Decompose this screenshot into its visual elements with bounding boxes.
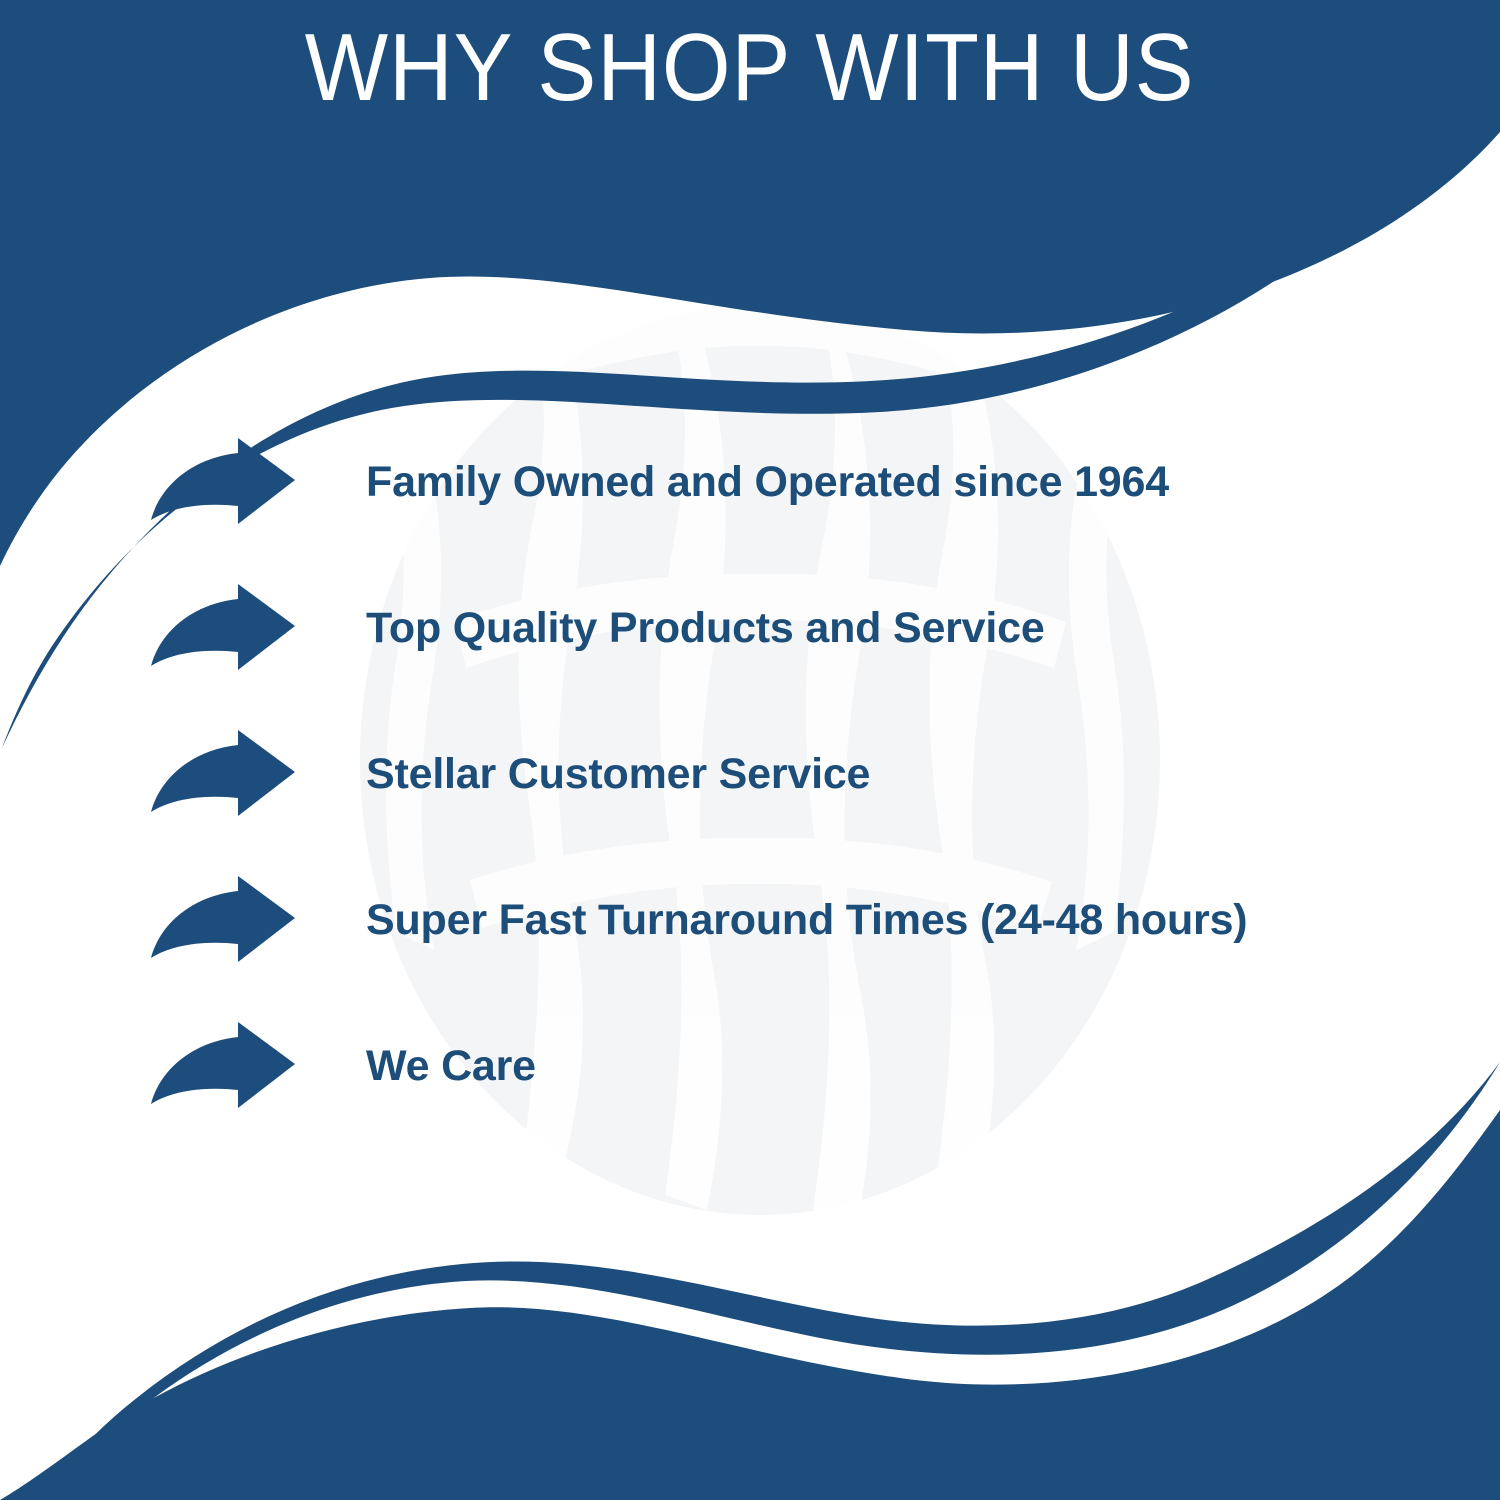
- benefits-list: Family Owned and Operated since 1964 Top…: [148, 432, 1438, 1116]
- curved-arrow-right-icon: [148, 728, 298, 820]
- list-item: Super Fast Turnaround Times (24-48 hours…: [148, 870, 1438, 970]
- list-item-label: Super Fast Turnaround Times (24-48 hours…: [366, 899, 1247, 942]
- list-item-label: Top Quality Products and Service: [366, 607, 1045, 650]
- list-item-label: Family Owned and Operated since 1964: [366, 461, 1169, 504]
- list-item-label: Stellar Customer Service: [366, 753, 870, 796]
- list-item: Stellar Customer Service: [148, 724, 1438, 824]
- curved-arrow-right-icon: [148, 1020, 298, 1112]
- curved-arrow-right-icon: [148, 582, 298, 674]
- list-item: Top Quality Products and Service: [148, 578, 1438, 678]
- list-item: We Care: [148, 1016, 1438, 1116]
- page-title: WHY SHOP WITH US: [305, 18, 1195, 119]
- why-shop-with-us-banner: WHY SHOP WITH US Family Owned and Operat…: [0, 0, 1500, 1500]
- curved-arrow-right-icon: [148, 874, 298, 966]
- banner-title-container: WHY SHOP WITH US: [0, 18, 1500, 119]
- list-item-label: We Care: [366, 1045, 536, 1088]
- curved-arrow-right-icon: [148, 436, 298, 528]
- list-item: Family Owned and Operated since 1964: [148, 432, 1438, 532]
